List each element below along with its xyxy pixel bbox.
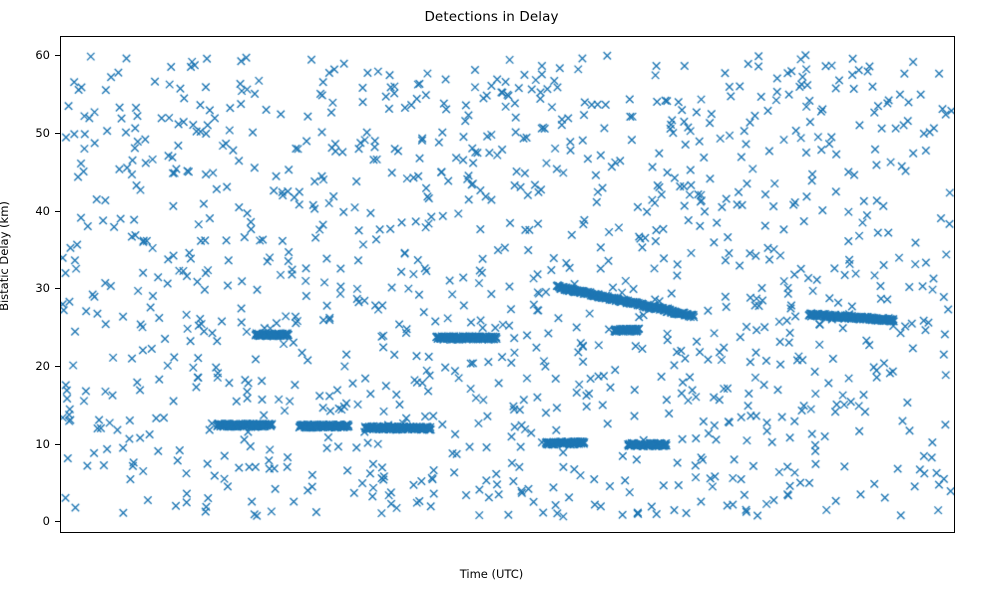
y-tick-label: 40 (0, 205, 50, 217)
y-tick-mark (55, 288, 61, 289)
y-tick-mark (55, 444, 61, 445)
y-tick-label: 20 (0, 360, 50, 372)
matplotlib-figure: Detections in Delay Bistatic Delay (km) … (0, 0, 983, 590)
y-tick-label: 0 (0, 515, 50, 527)
y-tick-mark (55, 211, 61, 212)
y-tick-label: 30 (0, 282, 50, 294)
y-tick-mark (55, 133, 61, 134)
y-tick-mark (55, 366, 61, 367)
x-axis-label: Time (UTC) (0, 567, 983, 581)
y-tick-mark (55, 55, 61, 56)
y-axis-label: Bistatic Delay (km) (0, 46, 11, 466)
scatter-plot-canvas (61, 37, 954, 532)
y-tick-label: 60 (0, 49, 50, 61)
plot-axes (60, 36, 955, 533)
chart-title: Detections in Delay (0, 9, 983, 25)
y-tick-label: 50 (0, 127, 50, 139)
y-tick-mark (55, 521, 61, 522)
y-tick-label: 10 (0, 438, 50, 450)
